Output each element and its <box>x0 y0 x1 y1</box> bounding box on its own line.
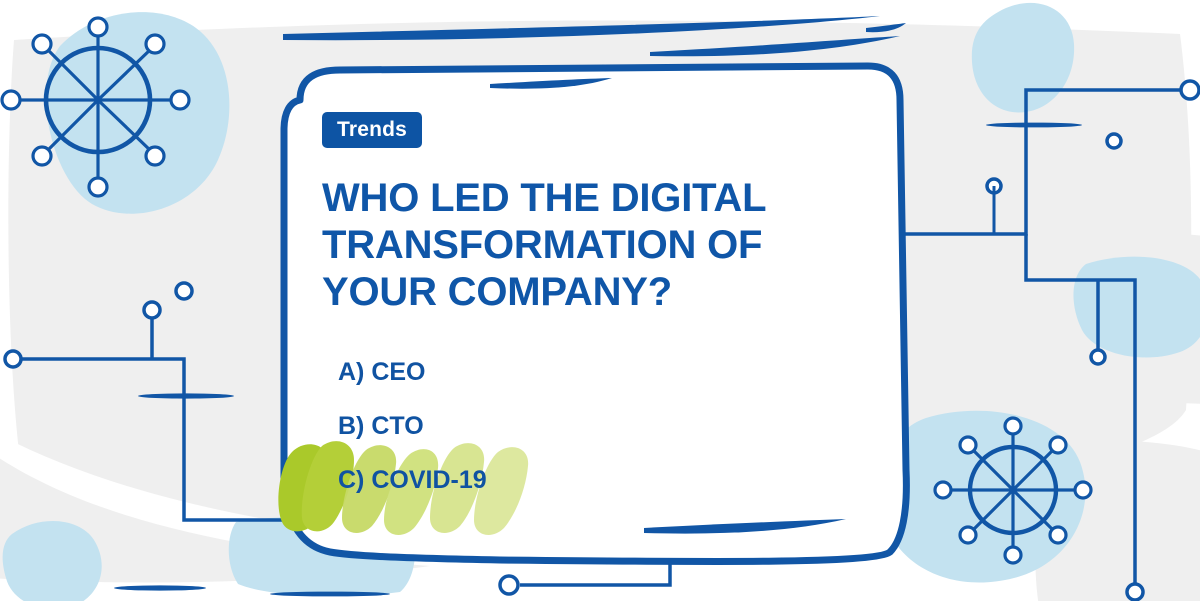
headline-line-2: TRANSFORMATION OF <box>322 222 882 269</box>
virus-body-circle <box>46 48 150 152</box>
virus-spike-tip <box>1050 527 1066 543</box>
virus-spike-tip <box>960 437 976 453</box>
virus-spike-tip <box>1005 418 1021 434</box>
virus-spike-tip <box>960 527 976 543</box>
virus-spike-tip <box>33 147 51 165</box>
answer-option-a-label: A) CEO <box>338 358 426 386</box>
virus-spike-tip <box>33 35 51 53</box>
circuit-node-icon <box>1107 134 1121 148</box>
virus-spike-tip <box>146 147 164 165</box>
card-content: Trends WHO LED THE DIGITAL TRANSFORMATIO… <box>322 112 882 493</box>
virus-spike-tip <box>935 482 951 498</box>
circuit-node-icon <box>1091 350 1105 364</box>
circuit-node-icon <box>144 302 160 318</box>
circuit-node-icon <box>5 351 21 367</box>
virus-spike-tip <box>146 35 164 53</box>
virus-spike-tip <box>89 178 107 196</box>
trends-badge: Trends <box>322 112 422 148</box>
virus-spike-tip <box>1005 547 1021 563</box>
page-title: WHO LED THE DIGITAL TRANSFORMATION OF YO… <box>322 175 882 317</box>
poster-canvas: Trends WHO LED THE DIGITAL TRANSFORMATIO… <box>0 0 1200 601</box>
circuit-node-icon <box>176 283 192 299</box>
virus-spike-tip <box>2 91 20 109</box>
circuit-node-icon <box>500 576 518 594</box>
answer-list: A) CEO B) CTO C) COVID-19 <box>322 360 882 493</box>
answer-option-a[interactable]: A) CEO <box>322 360 882 385</box>
virus-spike-tip <box>171 91 189 109</box>
circuit-dash-left <box>138 393 234 398</box>
virus-spike-tip <box>1050 437 1066 453</box>
headline-line-1: WHO LED THE DIGITAL <box>322 175 882 222</box>
headline-line-3: YOUR COMPANY? <box>322 269 882 316</box>
circuit-node-icon <box>1181 81 1199 99</box>
answer-option-c[interactable]: C) COVID-19 <box>322 468 882 493</box>
light-blue-blob-bottom-left <box>3 521 102 601</box>
circuit-node-icon <box>1127 584 1143 600</box>
answer-option-b-label: B) CTO <box>338 412 424 440</box>
virus-spike-tip <box>89 18 107 36</box>
circuit-dash-right <box>986 123 1082 128</box>
answer-option-c-label: C) COVID-19 <box>338 466 487 494</box>
answer-option-b[interactable]: B) CTO <box>322 414 882 439</box>
virus-spike-tip <box>1075 482 1091 498</box>
